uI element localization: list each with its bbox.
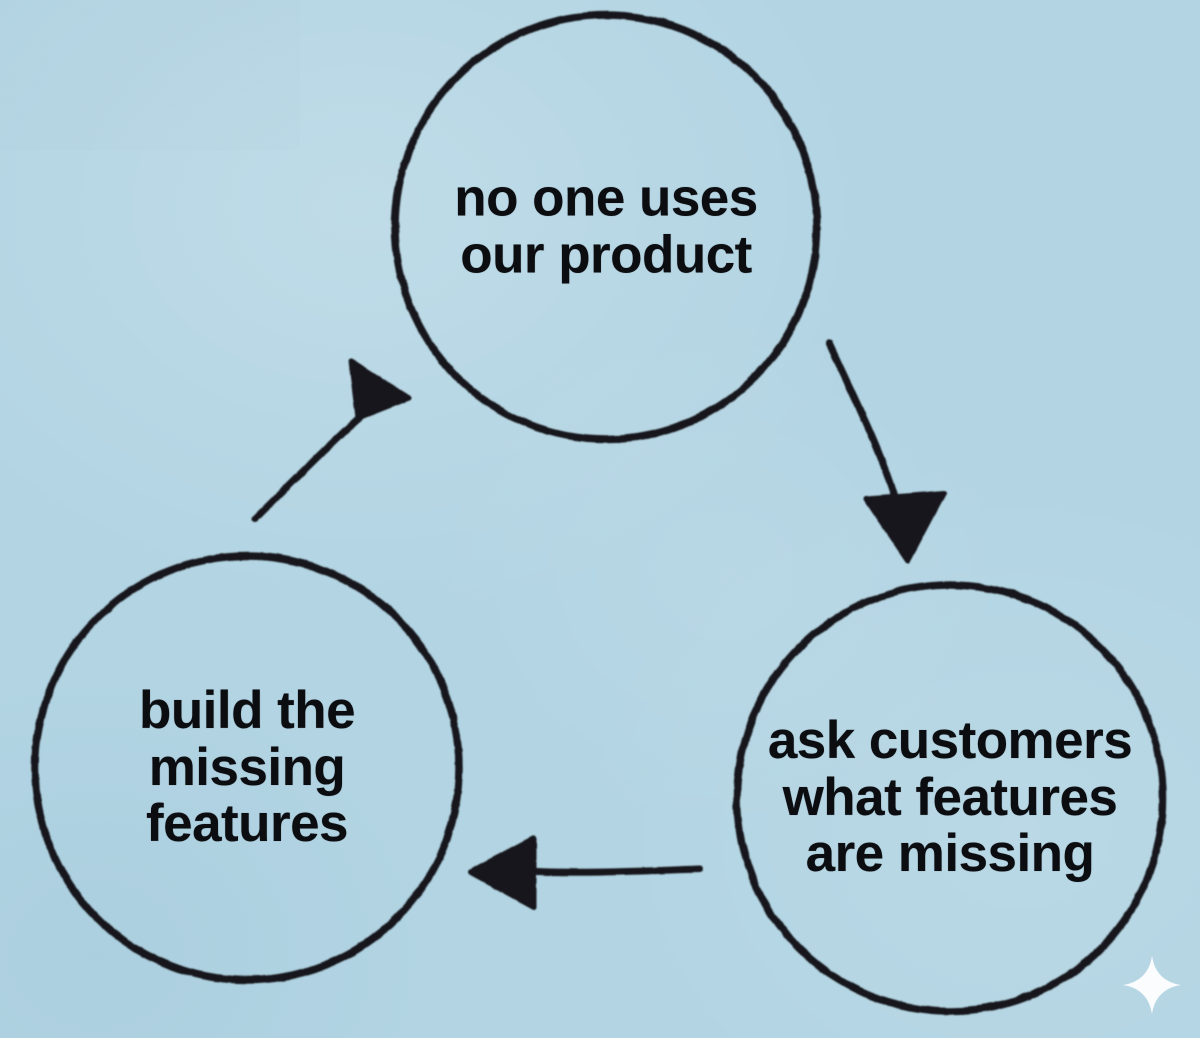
arrow-right-to-left bbox=[470, 838, 700, 907]
node-label-no-one-uses: no one uses our product bbox=[416, 170, 796, 283]
diagram-canvas: no one uses our product build the missin… bbox=[0, 0, 1200, 1038]
arrow-top-to-right bbox=[829, 343, 944, 561]
arrow-left-to-top bbox=[255, 361, 409, 519]
node-label-build-features: build the missing features bbox=[77, 683, 417, 853]
node-label-ask-customers: ask customers what features are missing bbox=[750, 713, 1150, 883]
